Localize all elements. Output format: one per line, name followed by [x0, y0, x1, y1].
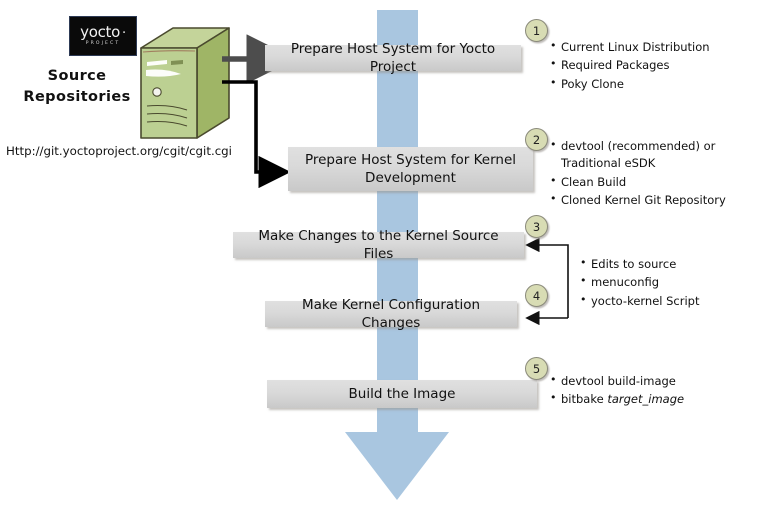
process-box-label: Build the Image — [349, 385, 456, 403]
note-item: yocto-kernel Script — [580, 293, 760, 310]
step-number: 1 — [533, 24, 540, 38]
note-item: menuconfig — [580, 274, 760, 291]
notes-list-step5: devtool build-image bitbake target_image — [550, 373, 750, 410]
process-box-prepare-host-kernel[interactable]: Prepare Host System for Kernel Developme… — [288, 147, 533, 191]
note-item: Edits to source — [580, 256, 760, 273]
step-number: 2 — [533, 133, 540, 147]
logo-wordmark: yocto· — [80, 25, 126, 40]
process-box-label: Make Changes to the Kernel Source Files — [243, 227, 514, 263]
notes-list-step3-step4: Edits to source menuconfig yocto-kernel … — [580, 256, 760, 311]
process-box-label: Prepare Host System for Yocto Project — [275, 40, 511, 76]
source-label-line-1: Source — [18, 66, 136, 87]
step-badge-2: 2 — [525, 128, 548, 151]
process-box-label: Prepare Host System for Kernel Developme… — [298, 151, 523, 187]
process-box-make-kernel-source-changes[interactable]: Make Changes to the Kernel Source Files — [233, 232, 524, 258]
yocto-project-logo: yocto· PROJECT — [69, 16, 137, 56]
diagram-canvas: yocto· PROJECT Source Repositories Http:… — [0, 0, 769, 517]
notes-list-step1: Current Linux Distribution Required Pack… — [550, 39, 760, 94]
note-item: Current Linux Distribution — [550, 39, 760, 56]
process-box-build-the-image[interactable]: Build the Image — [267, 380, 537, 408]
source-repository-url: Http://git.yoctoproject.org/cgit/cgit.cg… — [6, 144, 236, 158]
note-item: Required Packages — [550, 57, 760, 74]
note-item-command: bitbake — [561, 392, 607, 406]
process-box-label: Make Kernel Configuration Changes — [275, 296, 507, 332]
note-item: bitbake target_image — [550, 391, 750, 408]
process-box-prepare-host-yocto[interactable]: Prepare Host System for Yocto Project — [265, 45, 521, 71]
source-label-line-2: Repositories — [18, 87, 136, 108]
step-number: 4 — [533, 289, 540, 303]
step-badge-4: 4 — [525, 284, 548, 307]
step-badge-5: 5 — [525, 357, 548, 380]
note-item: Poky Clone — [550, 76, 760, 93]
note-item: Cloned Kernel Git Repository — [550, 192, 765, 209]
note-item-argument: target_image — [607, 392, 684, 406]
step-number: 5 — [533, 362, 540, 376]
main-flow-arrow-head — [345, 432, 449, 500]
note-item: devtool build-image — [550, 373, 750, 390]
logo-subtext: PROJECT — [86, 42, 121, 47]
server-tower-icon — [137, 26, 232, 144]
notes-list-step2: devtool (recommended) or Traditional eSD… — [550, 138, 765, 210]
process-box-make-kernel-config-changes[interactable]: Make Kernel Configuration Changes — [265, 301, 517, 327]
step-badge-3: 3 — [525, 215, 548, 238]
arrow-feedback-to-step3 — [538, 245, 568, 318]
note-item: Clean Build — [550, 174, 765, 191]
note-item: devtool (recommended) or Traditional eSD… — [550, 138, 765, 173]
step-number: 3 — [533, 220, 540, 234]
step-badge-1: 1 — [525, 19, 548, 42]
source-repositories-label: Source Repositories — [18, 66, 136, 108]
